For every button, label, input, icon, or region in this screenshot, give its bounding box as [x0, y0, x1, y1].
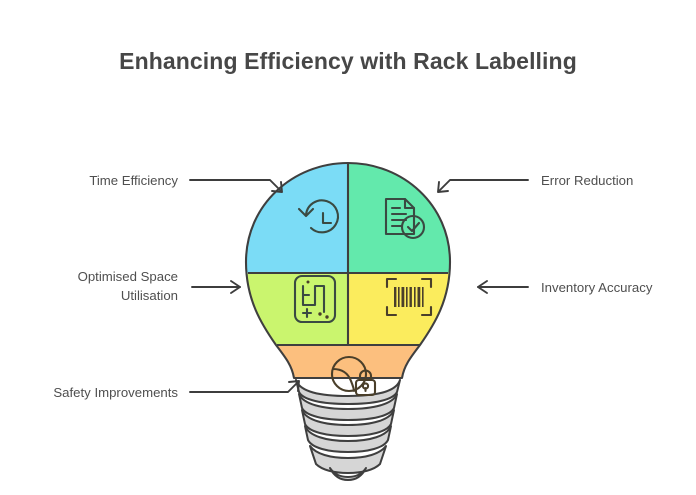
- arrow-inventory-accuracy: [478, 281, 528, 293]
- label-optimised-space-line2: Utilisation: [121, 288, 178, 303]
- bulb-screw-base: [296, 380, 400, 480]
- arrow-optimised-space: [192, 281, 240, 293]
- label-time-efficiency: Time Efficiency: [89, 173, 178, 188]
- label-safety-improvements: Safety Improvements: [53, 385, 178, 400]
- label-optimised-space-line1: Optimised Space: [78, 269, 178, 284]
- segment-time-efficiency-fill: [240, 155, 348, 273]
- infographic-diagram: Time Efficiency Optimised Space Utilisat…: [0, 0, 696, 495]
- arrow-error-reduction: [438, 180, 528, 192]
- label-error-reduction: Error Reduction: [541, 173, 633, 188]
- arrow-time-efficiency: [190, 180, 282, 192]
- arrow-safety-improvements: [190, 381, 299, 392]
- segment-safety-improvements-fill: [240, 345, 458, 395]
- label-inventory-accuracy: Inventory Accuracy: [541, 280, 653, 295]
